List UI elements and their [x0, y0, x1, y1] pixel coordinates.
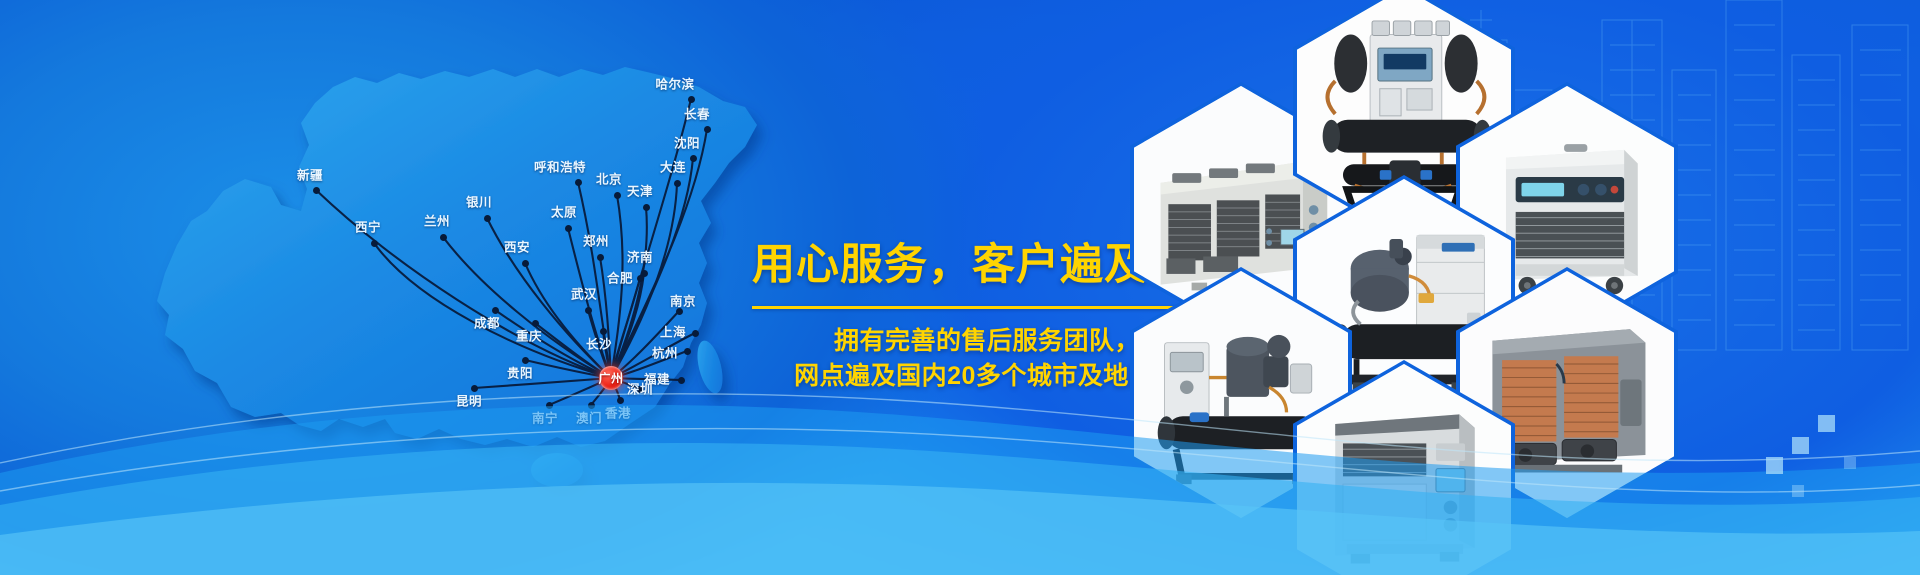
- product-hexagon-cluster: [1130, 0, 1920, 575]
- china-route-map: 哈尔滨长春沈阳大连呼和浩特北京天津新疆银川太原兰州西宁西安郑州济南合肥武汉南京成…: [95, 15, 795, 535]
- map-island-taiwan: [693, 338, 727, 396]
- map-island-hainan: [531, 453, 583, 487]
- promotional-banner: 哈尔滨长春沈阳大连呼和浩特北京天津新疆银川太原兰州西宁西安郑州济南合肥武汉南京成…: [0, 0, 1920, 575]
